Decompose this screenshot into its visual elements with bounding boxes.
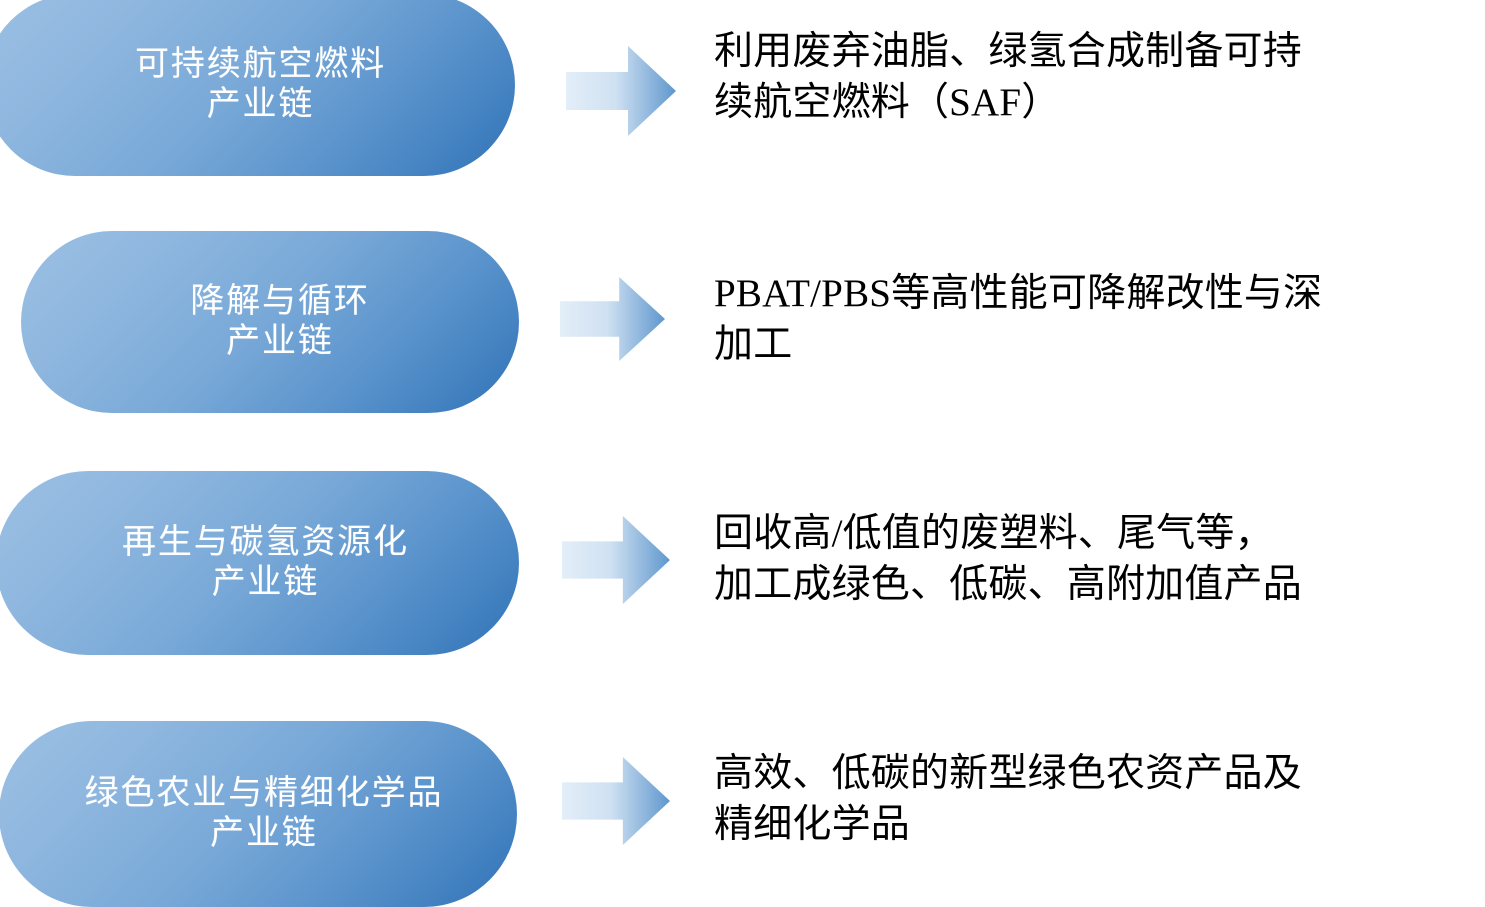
- description-regeneration-carbon-hydrogen: 回收高/低值的废塑料、尾气等， 加工成绿色、低碳、高附加值产品: [714, 509, 1474, 610]
- right-arrow-icon-green-agriculture-fine-chemicals: [562, 757, 670, 845]
- pill-label-regeneration-carbon-hydrogen: 再生与碳氢资源化 产业链: [106, 523, 409, 603]
- pill-regeneration-carbon-hydrogen[interactable]: 再生与碳氢资源化 产业链: [0, 471, 519, 655]
- pill-green-agriculture-fine-chemicals[interactable]: 绿色农业与精细化学品 产业链: [0, 721, 517, 907]
- description-saf: 利用废弃油脂、绿氢合成制备可持 续航空燃料（SAF）: [714, 27, 1474, 128]
- right-arrow-icon-regeneration-carbon-hydrogen: [562, 516, 670, 604]
- pill-label-green-agriculture-fine-chemicals: 绿色农业与精细化学品 产业链: [73, 774, 444, 854]
- pill-label-saf: 可持续航空燃料 产业链: [113, 45, 386, 125]
- right-arrow-icon-saf: [566, 46, 676, 136]
- pill-saf[interactable]: 可持续航空燃料 产业链: [0, 0, 515, 176]
- diagram-canvas: 可持续航空燃料 产业链 利用废弃油脂、绿氢合成制备可持 续航空燃料（SAF） 降…: [0, 0, 1485, 899]
- pill-degradation-recycling[interactable]: 降解与循环 产业链: [21, 231, 519, 413]
- description-green-agriculture-fine-chemicals: 高效、低碳的新型绿色农资产品及 精细化学品: [714, 749, 1474, 850]
- pill-label-degradation-recycling: 降解与循环 产业链: [170, 282, 369, 362]
- right-arrow-icon-degradation-recycling: [560, 277, 665, 361]
- description-degradation-recycling: PBAT/PBS等高性能可降解改性与深 加工: [714, 269, 1474, 370]
